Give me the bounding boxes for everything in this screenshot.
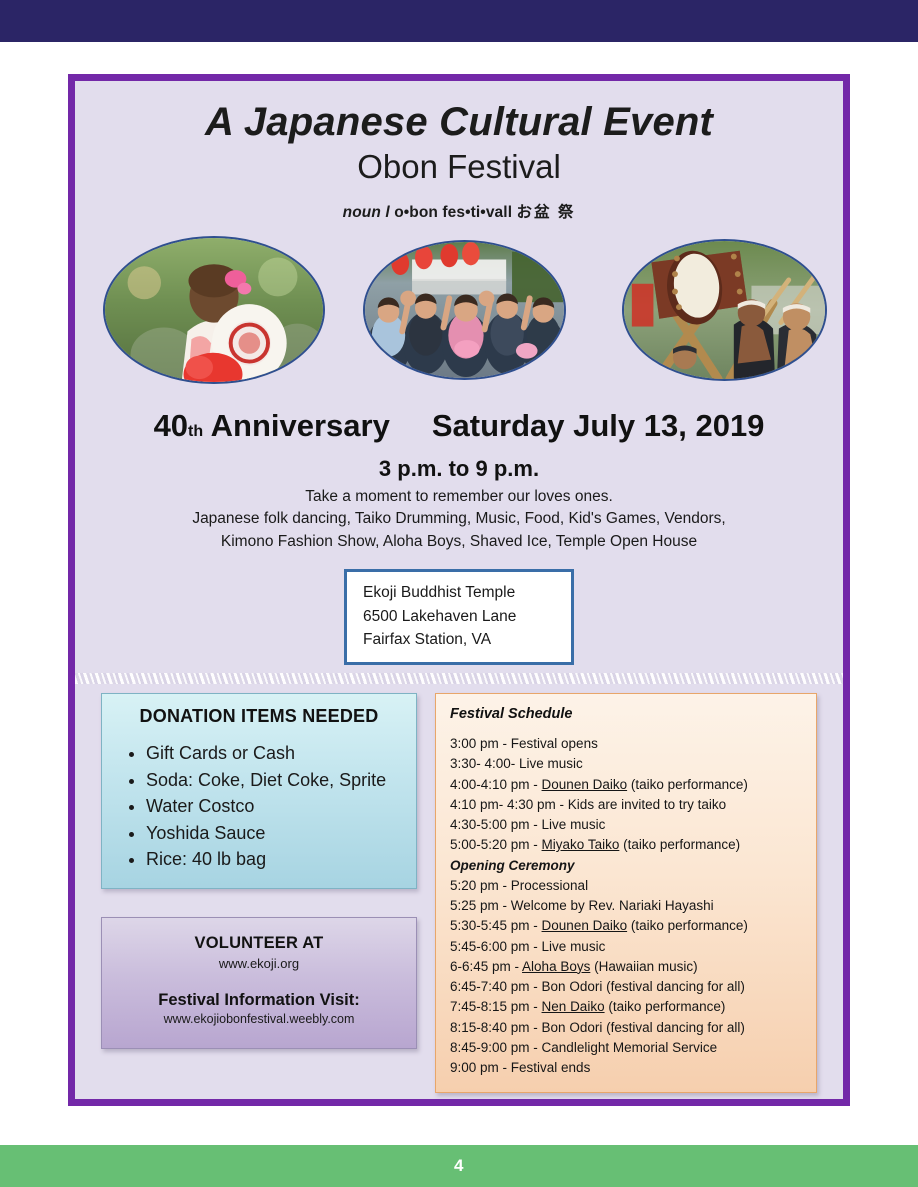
- schedule-entry: 7:45-8:15 pm - Nen Daiko (taiko performa…: [450, 997, 802, 1017]
- pronunciation-line: noun l o•bon fes•ti•vall お盆 祭: [75, 200, 843, 222]
- schedule-performer: Nen Daiko: [542, 999, 605, 1014]
- schedule-entry: 4:10 pm- 4:30 pm - Kids are invited to t…: [450, 795, 802, 815]
- description-line-3: Kimono Fashion Show, Aloha Boys, Shaved …: [101, 531, 817, 553]
- schedule-entry: 6-6:45 pm - Aloha Boys (Hawaiian music): [450, 957, 802, 977]
- page-title: A Japanese Cultural Event: [75, 81, 843, 143]
- pronunciation-separator-2: l: [508, 204, 512, 221]
- schedule-entry: 5:45-6:00 pm - Live music: [450, 937, 802, 957]
- flyer-content: A Japanese Cultural Event Obon Festival …: [75, 81, 843, 1099]
- schedule-performer: Dounen Daiko: [542, 777, 628, 792]
- venue-street: 6500 Lakehaven Lane: [363, 605, 555, 628]
- donation-items-list: Gift Cards or Cash Soda: Coke, Diet Coke…: [146, 741, 406, 873]
- list-item: Yoshida Sauce: [146, 821, 406, 847]
- donation-items-box: DONATION ITEMS NEEDED Gift Cards or Cash…: [101, 693, 417, 889]
- event-date: Saturday July 13, 2019: [432, 408, 765, 444]
- anniversary-ordinal: th: [188, 423, 203, 440]
- schedule-entry: 5:30-5:45 pm - Dounen Daiko (taiko perfo…: [450, 916, 802, 936]
- photo-crowd-dancing-with-lanterns: [363, 240, 566, 380]
- festival-info-url[interactable]: www.ekojiobonfestival.weebly.com: [114, 1012, 404, 1026]
- list-item: Gift Cards or Cash: [146, 741, 406, 767]
- page-number: 4: [454, 1156, 464, 1176]
- schedule-entry: 8:45-9:00 pm - Candlelight Memorial Serv…: [450, 1038, 802, 1058]
- schedule-entry: 4:00-4:10 pm - Dounen Daiko (taiko perfo…: [450, 775, 802, 795]
- volunteer-heading: VOLUNTEER AT: [114, 934, 404, 953]
- schedule-entry: 5:00-5:20 pm - Miyako Taiko (taiko perfo…: [450, 835, 802, 855]
- schedule-entry: 9:00 pm - Festival ends: [450, 1058, 802, 1078]
- anniversary-number: 40: [154, 408, 188, 443]
- flyer-frame: A Japanese Cultural Event Obon Festival …: [68, 74, 850, 1106]
- schedule-entry: 5:25 pm - Welcome by Rev. Nariaki Hayash…: [450, 896, 802, 916]
- festival-info-heading: Festival Information Visit:: [114, 991, 404, 1010]
- description-line-2: Japanese folk dancing, Taiko Drumming, M…: [101, 508, 817, 530]
- part-of-speech: noun: [343, 204, 381, 221]
- schedule-performer: Dounen Daiko: [542, 918, 628, 933]
- schedule-entry: 3:30- 4:00- Live music: [450, 754, 802, 774]
- list-item: Water Costco: [146, 794, 406, 820]
- japanese-kanji: お盆 祭: [517, 204, 576, 221]
- photo-strip: [75, 234, 843, 394]
- lower-section: DONATION ITEMS NEEDED Gift Cards or Cash…: [75, 693, 843, 1093]
- decorative-divider: [75, 673, 843, 684]
- page-subtitle: Obon Festival: [75, 148, 843, 186]
- list-item: Soda: Coke, Diet Coke, Sprite: [146, 768, 406, 794]
- schedule-performer: Miyako Taiko: [542, 837, 620, 852]
- event-description: Take a moment to remember our loves ones…: [75, 486, 843, 553]
- list-item: Rice: 40 lb bag: [146, 847, 406, 873]
- anniversary-word: Anniversary: [211, 408, 390, 443]
- photo-girl-in-kimono-with-fan: [103, 236, 325, 384]
- schedule-title: Festival Schedule: [450, 706, 802, 722]
- description-line-1: Take a moment to remember our loves ones…: [101, 486, 817, 508]
- photo-taiko-drummers: [622, 239, 827, 381]
- right-column: Festival Schedule 3:00 pm - Festival ope…: [435, 693, 817, 1093]
- pronunciation-separator-1: l: [385, 204, 389, 221]
- schedule-entry: 6:45-7:40 pm - Bon Odori (festival danci…: [450, 977, 802, 997]
- phonetic-spelling: o•bon fes•ti•val: [394, 204, 507, 221]
- festival-schedule-box: Festival Schedule 3:00 pm - Festival ope…: [435, 693, 817, 1093]
- schedule-entry: 4:30-5:00 pm - Live music: [450, 815, 802, 835]
- schedule-entry: 8:15-8:40 pm - Bon Odori (festival danci…: [450, 1018, 802, 1038]
- schedule-performer: Aloha Boys: [522, 959, 590, 974]
- footer-band: 4: [0, 1145, 918, 1187]
- venue-name: Ekoji Buddhist Temple: [363, 581, 555, 604]
- address-wrapper: Ekoji Buddhist Temple 6500 Lakehaven Lan…: [75, 569, 843, 665]
- venue-city-state: Fairfax Station, VA: [363, 628, 555, 651]
- page-root: A Japanese Cultural Event Obon Festival …: [0, 0, 918, 1187]
- venue-address-box: Ekoji Buddhist Temple 6500 Lakehaven Lan…: [344, 569, 574, 665]
- schedule-entry: 3:00 pm - Festival opens: [450, 734, 802, 754]
- left-column: DONATION ITEMS NEEDED Gift Cards or Cash…: [101, 693, 417, 1049]
- volunteer-url[interactable]: www.ekoji.org: [114, 956, 404, 971]
- anniversary-label: 40th Anniversary: [154, 408, 390, 444]
- event-hours: 3 p.m. to 9 p.m.: [75, 456, 843, 482]
- schedule-entry: Opening Ceremony: [450, 856, 802, 876]
- schedule-entries: 3:00 pm - Festival opens3:30- 4:00- Live…: [450, 734, 802, 1078]
- schedule-entry: 5:20 pm - Processional: [450, 876, 802, 896]
- top-band: [0, 0, 918, 42]
- anniversary-date-row: 40th Anniversary Saturday July 13, 2019: [75, 408, 843, 444]
- donation-title: DONATION ITEMS NEEDED: [112, 706, 406, 727]
- volunteer-info-box: VOLUNTEER AT www.ekoji.org Festival Info…: [101, 917, 417, 1049]
